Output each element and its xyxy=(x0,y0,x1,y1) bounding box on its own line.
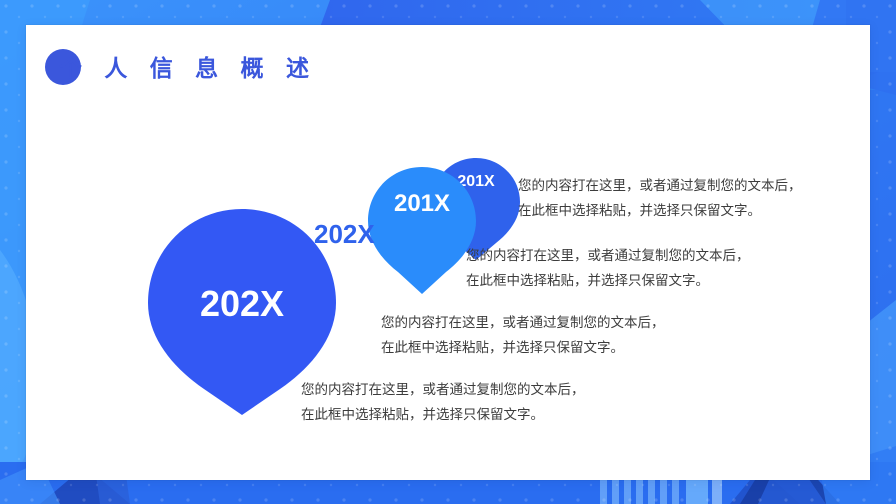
description-paragraph-4: 您的内容打在这里，或者通过复制您的文本后， 在此框中选择粘贴，并选择只保留文字。 xyxy=(301,377,585,427)
paragraph-4-line-1: 您的内容打在这里，或者通过复制您的文本后， xyxy=(301,377,585,402)
description-paragraph-3: 您的内容打在这里，或者通过复制您的文本后， 在此框中选择粘贴，并选择只保留文字。 xyxy=(381,310,665,360)
paragraph-3-line-1: 您的内容打在这里，或者通过复制您的文本后， xyxy=(381,310,665,335)
paragraph-3-line-2: 在此框中选择粘贴，并选择只保留文字。 xyxy=(381,335,665,360)
paragraph-1-line-1: 您的内容打在这里，或者通过复制您的文本后， xyxy=(518,173,802,198)
content-card: 个 人 信 息 概 述 201X 201X 202X 202X 您的内容打在这里… xyxy=(26,25,870,480)
pin-large-outside-label: 202X xyxy=(314,219,375,250)
paragraph-2-line-2: 在此框中选择粘贴，并选择只保留文字。 xyxy=(466,268,750,293)
paragraph-2-line-1: 您的内容打在这里，或者通过复制您的文本后， xyxy=(466,243,750,268)
slide-canvas: 个 人 信 息 概 述 201X 201X 202X 202X 您的内容打在这里… xyxy=(0,0,896,504)
page-title: 个 人 信 息 概 述 xyxy=(45,46,317,90)
description-paragraph-1: 您的内容打在这里，或者通过复制您的文本后， 在此框中选择粘贴，并选择只保留文字。 xyxy=(518,173,802,223)
paragraph-4-line-2: 在此框中选择粘贴，并选择只保留文字。 xyxy=(301,402,585,427)
description-paragraph-2: 您的内容打在这里，或者通过复制您的文本后， 在此框中选择粘贴，并选择只保留文字。 xyxy=(466,243,750,293)
page-title-text: 个 人 信 息 概 述 xyxy=(59,46,317,90)
paragraph-1-line-2: 在此框中选择粘贴，并选择只保留文字。 xyxy=(518,198,802,223)
